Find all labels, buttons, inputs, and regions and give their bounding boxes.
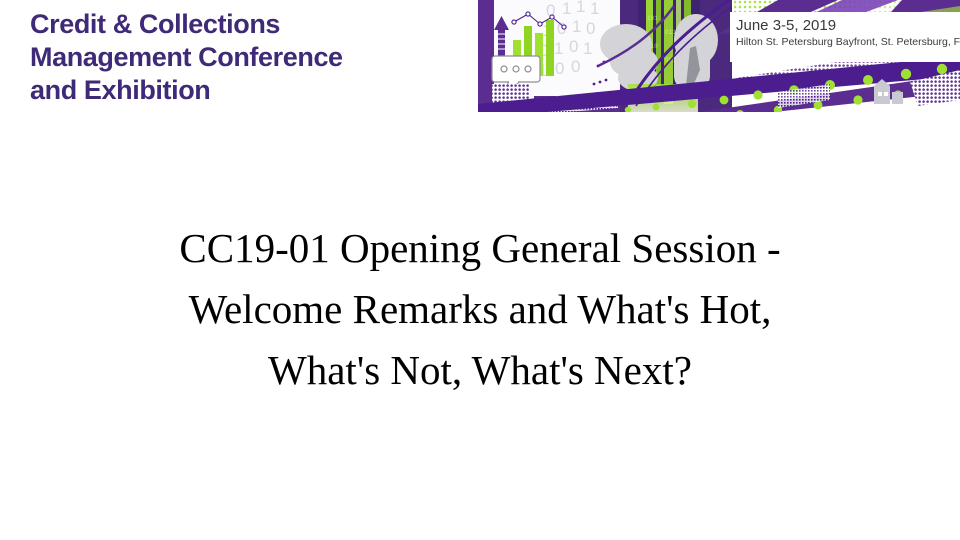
svg-text:1: 1 bbox=[576, 0, 585, 16]
svg-text:0: 0 bbox=[586, 19, 595, 38]
svg-text:1: 1 bbox=[554, 39, 563, 58]
logo-line-1: Credit & Collections bbox=[30, 8, 460, 41]
session-title-line-3: What's Not, What's Next? bbox=[60, 340, 900, 401]
svg-text:1: 1 bbox=[572, 17, 581, 36]
svg-text:1: 1 bbox=[590, 0, 599, 18]
logo-line-3: and Exhibition bbox=[30, 74, 460, 107]
svg-text:0: 0 bbox=[571, 57, 580, 76]
conference-date: June 3-5, 2019 bbox=[730, 16, 960, 35]
svg-text:1: 1 bbox=[562, 0, 571, 18]
presentation-slide: Credit & Collections Management Conferen… bbox=[0, 0, 960, 540]
slide-header: Credit & Collections Management Conferen… bbox=[0, 0, 960, 120]
svg-text:0: 0 bbox=[555, 59, 564, 78]
banner-date-plate: June 3-5, 2019 Hilton St. Petersburg Bay… bbox=[730, 12, 960, 62]
svg-text:0: 0 bbox=[569, 37, 578, 56]
session-title-line-2: Welcome Remarks and What's Hot, bbox=[60, 279, 900, 340]
svg-text:1: 1 bbox=[583, 39, 592, 58]
conference-venue: Hilton St. Petersburg Bayfront, St. Pete… bbox=[730, 35, 960, 49]
svg-text:101: 101 bbox=[647, 15, 658, 22]
session-title: CC19-01 Opening General Session - Welcom… bbox=[60, 218, 900, 401]
session-title-line-1: CC19-01 Opening General Session - bbox=[60, 218, 900, 279]
conference-logo: Credit & Collections Management Conferen… bbox=[30, 8, 460, 107]
logo-line-2: Management Conference bbox=[30, 41, 460, 74]
conference-banner-artwork: 01 11 10 10 01 01 10 0 bbox=[478, 0, 960, 118]
